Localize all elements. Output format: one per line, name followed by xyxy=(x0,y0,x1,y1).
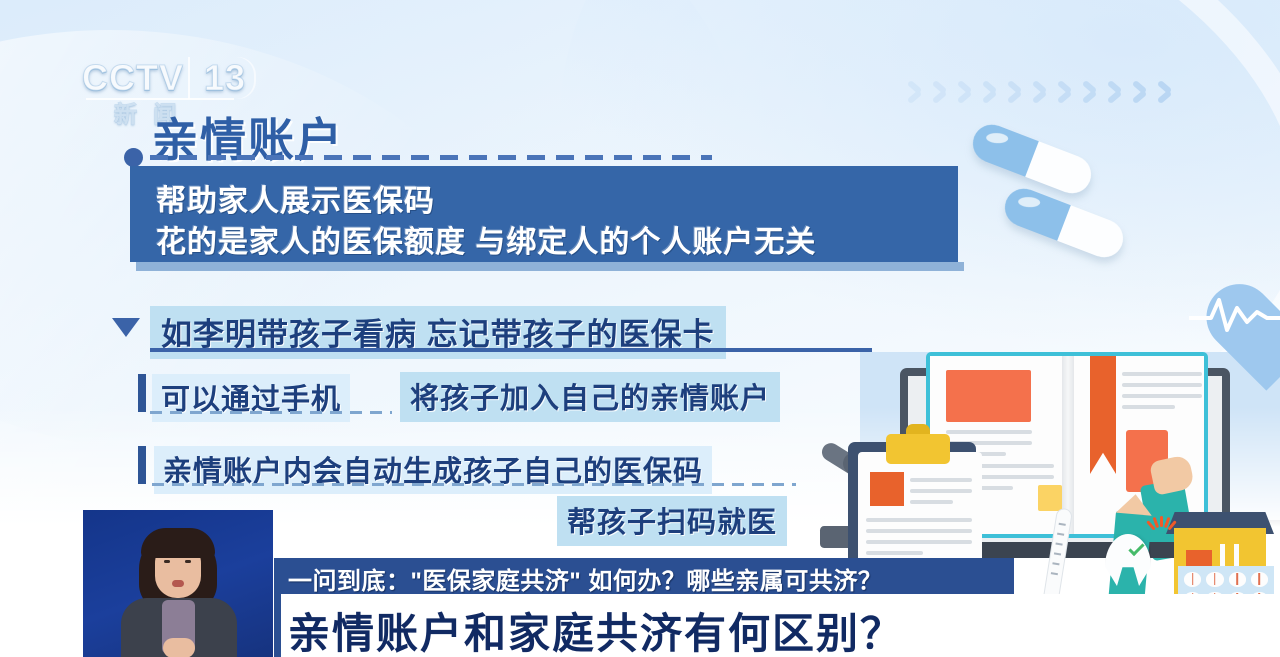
chevron-right-icon xyxy=(1030,72,1052,114)
list-item-highlight-text: 帮孩子扫码就医 xyxy=(557,496,787,546)
anchor-eye xyxy=(185,560,191,563)
chevron-right-icon xyxy=(1105,72,1127,114)
ecg-line xyxy=(1189,288,1280,334)
clipboard-clip xyxy=(886,434,950,464)
logo-channel-number: 13 xyxy=(188,57,256,99)
dashed-divider xyxy=(150,155,712,160)
section-heading-rule xyxy=(150,348,872,352)
anchor-mouth xyxy=(172,580,184,587)
list-marker-bar xyxy=(138,446,146,484)
blue-box-line-1: 帮助家人展示医保码 xyxy=(156,176,435,220)
lower-third-topic-text: 一问到底："医保家庭共济" 如何办？哪些亲属可共济？ xyxy=(288,561,882,596)
tooth-icon xyxy=(1105,534,1151,586)
logo-text: CCTV xyxy=(82,57,184,98)
chevron-arrow-row xyxy=(905,72,1177,114)
blue-box-shadow xyxy=(136,262,964,271)
list-item-soft-text: 可以通过手机 xyxy=(152,374,350,422)
book-accent-block xyxy=(1038,485,1062,511)
chevron-right-icon xyxy=(980,72,1002,114)
dashed-underline xyxy=(150,411,392,414)
chevron-right-icon xyxy=(1130,72,1152,114)
logo-underline xyxy=(86,98,234,100)
chevron-right-icon xyxy=(1080,72,1102,114)
medical-illustration xyxy=(860,330,1280,590)
chevron-right-icon xyxy=(930,72,952,114)
anchor-hands xyxy=(163,638,195,657)
info-blue-box: 帮助家人展示医保码 花的是家人的医保额度 与绑定人的个人账户无关 xyxy=(130,166,958,262)
dashed-underline xyxy=(152,483,796,486)
anchor-eye xyxy=(164,560,170,563)
bullet-dot-icon xyxy=(124,148,143,167)
chevron-right-icon xyxy=(1055,72,1077,114)
book-text-lines xyxy=(1122,372,1202,416)
page-title: 亲情账户 xyxy=(152,104,344,170)
triangle-down-icon xyxy=(112,318,140,337)
list-marker-bar xyxy=(138,374,146,412)
clipboard-text-lines xyxy=(910,478,972,511)
anchor-fringe xyxy=(141,528,215,558)
clipboard-text-lines xyxy=(866,518,972,562)
clipboard-image-block xyxy=(870,472,904,506)
blue-box-line-2: 花的是家人的医保额度 与绑定人的个人账户无关 xyxy=(156,217,816,261)
list-item-soft-text: 亲情账户内会自动生成孩子自己的医保码 xyxy=(154,446,712,494)
chevron-right-icon xyxy=(1155,72,1177,114)
book-image-block xyxy=(946,370,1031,422)
news-graphic-stage: CCTV13 新 闻 亲情账户 帮助家人展示医保码 花的是家人的医保额度 与绑定… xyxy=(0,0,1280,657)
book-spine xyxy=(1062,356,1074,534)
chevron-right-icon xyxy=(955,72,977,114)
lower-third-title-text: 亲情账户和家庭共济有何区别？ xyxy=(288,600,904,657)
lower-third-accent-strip xyxy=(274,594,281,657)
news-anchor-video xyxy=(83,510,273,657)
chevron-right-icon xyxy=(1005,72,1027,114)
chevron-right-icon xyxy=(905,72,927,114)
list-item-highlight-text: 将孩子加入自己的亲情账户 xyxy=(400,372,780,422)
